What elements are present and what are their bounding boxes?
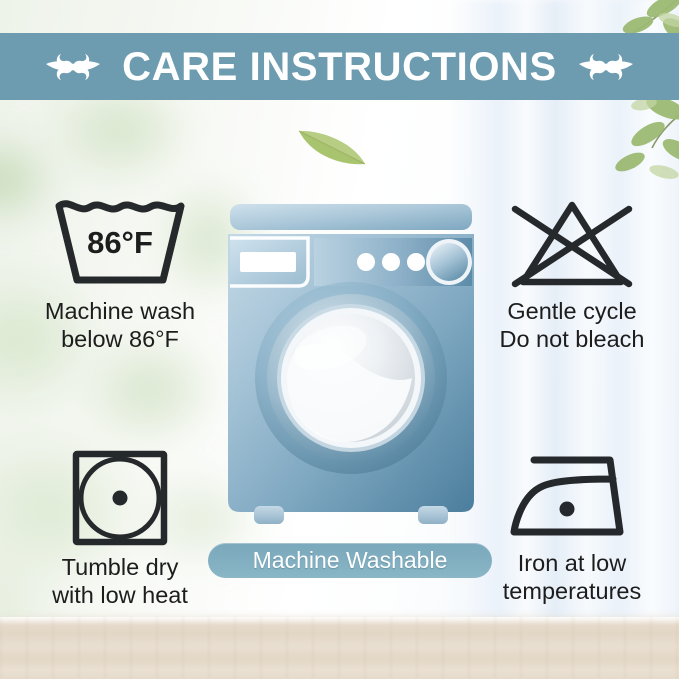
triangle-crossed-out-icon <box>497 196 647 292</box>
control-dial-1[interactable] <box>357 253 375 271</box>
program-knob[interactable] <box>430 243 468 281</box>
drawer-handle <box>240 252 296 272</box>
care-symbol-tumble-dry: Tumble dry with low heat <box>14 448 226 609</box>
wash-tub-icon: 86°F <box>45 196 195 292</box>
background-table <box>0 617 679 679</box>
care-symbol-iron: Iron at low temperatures <box>468 448 676 605</box>
fleur-de-lis-icon-right <box>575 45 637 89</box>
machine-washable-badge: Machine Washable <box>208 543 492 578</box>
tumble-dry-heat-dot <box>113 491 128 506</box>
table-grain <box>0 617 679 679</box>
washing-machine-illustration <box>226 200 476 540</box>
care-symbol-do-not-bleach: Gentle cycle Do not bleach <box>468 196 676 353</box>
machine-washable-label: Machine Washable <box>253 549 448 572</box>
tumble-dry-icon <box>65 448 175 548</box>
care-label-machine-wash: Machine wash below 86°F <box>45 298 195 353</box>
wash-temperature-value: 86°F <box>87 225 153 260</box>
floating-leaf-icon <box>295 122 369 168</box>
care-symbol-machine-wash: 86°F Machine wash below 86°F <box>14 196 226 353</box>
page-title: CARE INSTRUCTIONS <box>122 47 557 87</box>
care-instructions-graphic: CARE INSTRUCTIONS 86°F Machine wash belo… <box>0 0 679 679</box>
care-label-tumble-dry: Tumble dry with low heat <box>52 554 188 609</box>
fleur-de-lis-icon-left <box>42 45 104 89</box>
iron-heat-dot <box>560 502 575 517</box>
header-banner: CARE INSTRUCTIONS <box>0 33 679 100</box>
care-label-do-not-bleach: Gentle cycle Do not bleach <box>499 298 644 353</box>
iron-icon <box>497 448 647 544</box>
machine-foot-left <box>254 506 284 524</box>
control-dial-3[interactable] <box>407 253 425 271</box>
care-label-iron: Iron at low temperatures <box>503 550 641 605</box>
control-dial-2[interactable] <box>382 253 400 271</box>
machine-top-lid <box>230 204 472 230</box>
machine-foot-right <box>418 506 448 524</box>
